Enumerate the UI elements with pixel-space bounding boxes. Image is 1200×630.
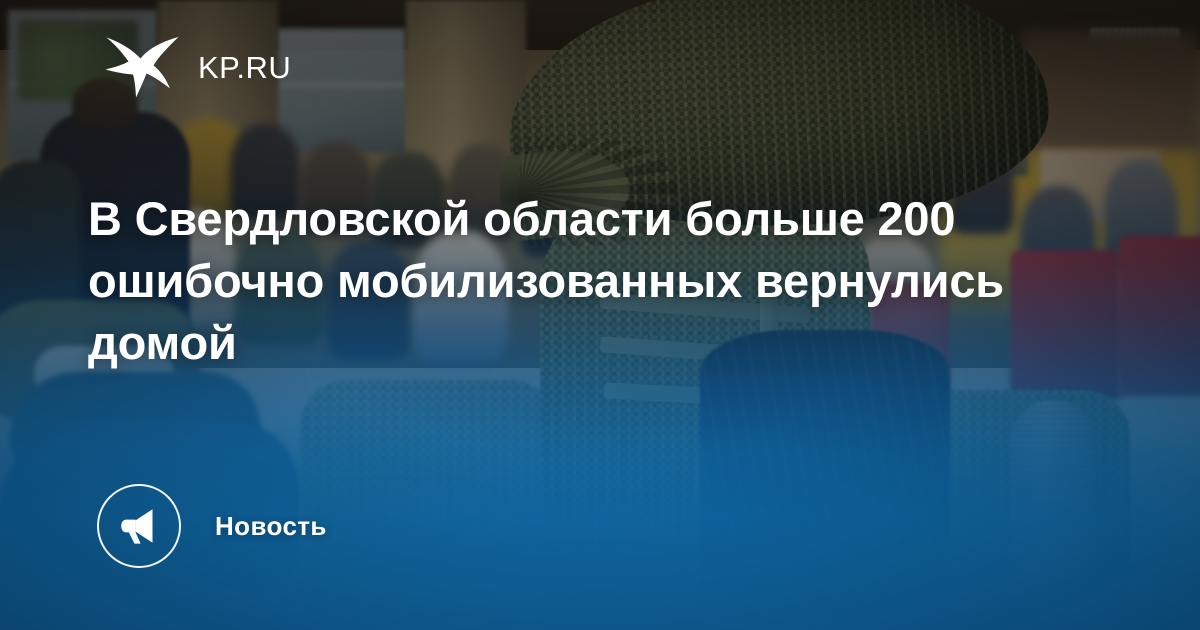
megaphone-icon <box>97 484 181 568</box>
brand-name: KP.RU <box>198 52 291 83</box>
news-social-card: KP.RU В Свердловской области больше 200 … <box>0 0 1200 630</box>
brand-lockup[interactable]: KP.RU <box>104 36 291 98</box>
badge-label: Новость <box>215 513 327 539</box>
status-badge[interactable]: Новость <box>97 484 327 568</box>
swallow-bird-icon <box>104 36 182 98</box>
page-title: В Свердловской области больше 200 ошибоч… <box>88 188 1048 374</box>
